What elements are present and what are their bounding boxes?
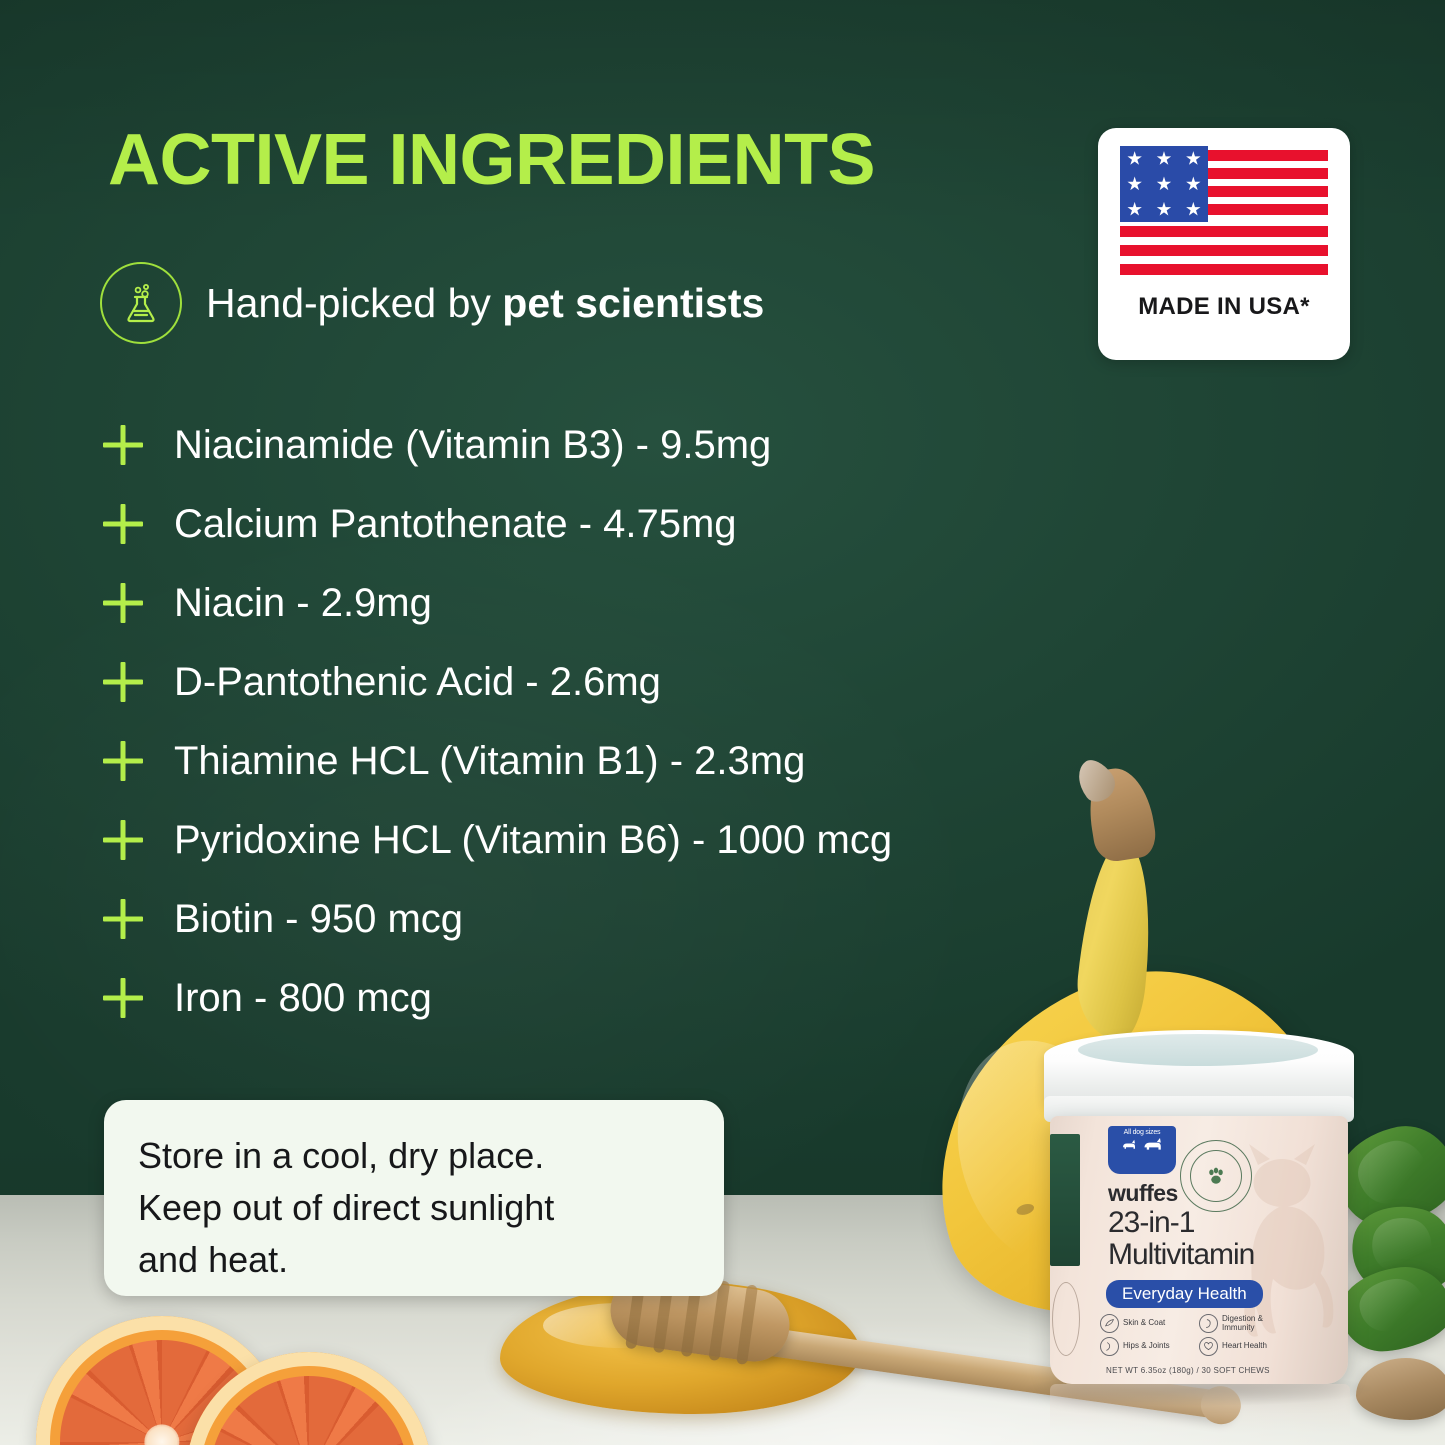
flag-stripe bbox=[1120, 226, 1328, 237]
ingredient-label: Calcium Pantothenate - 4.75mg bbox=[174, 504, 737, 544]
plus-icon bbox=[100, 975, 146, 1021]
flask-icon bbox=[100, 262, 182, 344]
ingredient-row: Calcium Pantothenate - 4.75mg bbox=[100, 484, 1100, 563]
jar-label: All dog sizes bbox=[1050, 1116, 1348, 1384]
tagline-bold: pet scientists bbox=[502, 280, 764, 326]
vet-seal-inner-ring bbox=[1190, 1150, 1242, 1202]
ingredient-label: Niacinamide (Vitamin B3) - 9.5mg bbox=[174, 425, 771, 465]
flag-star bbox=[1156, 176, 1171, 191]
all-dog-sizes-badge: All dog sizes bbox=[1108, 1126, 1176, 1174]
page-title: ACTIVE INGREDIENTS bbox=[108, 124, 875, 196]
us-flag-icon bbox=[1120, 146, 1328, 278]
ingredient-label: Pyridoxine HCL (Vitamin B6) - 1000 mcg bbox=[174, 820, 892, 860]
jar-side-seal bbox=[1052, 1282, 1080, 1356]
veterinarian-approved-seal bbox=[1180, 1140, 1252, 1212]
product-jar: All dog sizes bbox=[1036, 1030, 1362, 1390]
flag-star bbox=[1127, 176, 1142, 191]
flag-star bbox=[1186, 202, 1201, 217]
flag-stripe bbox=[1120, 264, 1328, 275]
jar-brand: wuffes bbox=[1108, 1180, 1178, 1207]
ingredient-row: Thiamine HCL (Vitamin B1) - 2.3mg bbox=[100, 721, 1100, 800]
paw-print-icon bbox=[1205, 1165, 1227, 1187]
flag-star bbox=[1156, 151, 1171, 166]
benefit-label: Digestion & Immunity bbox=[1222, 1315, 1290, 1333]
flag-canton bbox=[1120, 146, 1208, 222]
flag-star bbox=[1127, 151, 1142, 166]
flag-star bbox=[1127, 202, 1142, 217]
ingredient-row: Biotin - 950 mcg bbox=[100, 879, 1100, 958]
tagline-text: Hand-picked by pet scientists bbox=[206, 283, 764, 324]
plus-icon bbox=[100, 422, 146, 468]
plus-icon bbox=[100, 580, 146, 626]
plus-icon bbox=[100, 817, 146, 863]
benefit-item: Hips & Joints bbox=[1100, 1337, 1191, 1356]
flag-star bbox=[1186, 176, 1201, 191]
jar-reflection bbox=[1050, 1384, 1350, 1444]
ingredient-label: Niacin - 2.9mg bbox=[174, 583, 432, 623]
digestion-icon bbox=[1199, 1314, 1218, 1333]
skin-coat-icon bbox=[1100, 1314, 1119, 1333]
ingredient-row: Pyridoxine HCL (Vitamin B6) - 1000 mcg bbox=[100, 800, 1100, 879]
ingredient-label: D-Pantothenic Acid - 2.6mg bbox=[174, 662, 661, 702]
dog-size-icons bbox=[1120, 1138, 1164, 1152]
benefit-label: Heart Health bbox=[1222, 1342, 1267, 1351]
benefit-label: Hips & Joints bbox=[1123, 1342, 1170, 1351]
benefit-item: Heart Health bbox=[1199, 1337, 1290, 1356]
flag-star bbox=[1186, 151, 1201, 166]
plus-icon bbox=[100, 896, 146, 942]
plus-icon bbox=[100, 738, 146, 784]
benefit-item: Skin & Coat bbox=[1100, 1314, 1191, 1333]
jar-benefits-grid: Skin & Coat Digestion & Immunity Hips & … bbox=[1100, 1314, 1290, 1356]
dipper-rib bbox=[736, 1284, 758, 1365]
benefit-item: Digestion & Immunity bbox=[1199, 1314, 1290, 1333]
tagline-prefix: Hand-picked by bbox=[206, 280, 502, 326]
ingredient-row: D-Pantothenic Acid - 2.6mg bbox=[100, 642, 1100, 721]
all-dog-sizes-label: All dog sizes bbox=[1124, 1129, 1161, 1136]
jar-side-panel bbox=[1050, 1134, 1080, 1266]
benefit-label: Skin & Coat bbox=[1123, 1319, 1165, 1328]
small-dog-icon bbox=[1120, 1138, 1138, 1152]
flag-star bbox=[1156, 202, 1171, 217]
plus-icon bbox=[100, 501, 146, 547]
ingredient-label: Thiamine HCL (Vitamin B1) - 2.3mg bbox=[174, 741, 805, 781]
ingredient-label: Iron - 800 mcg bbox=[174, 978, 432, 1018]
storage-line-3: and heat. bbox=[138, 1234, 690, 1286]
plus-icon bbox=[100, 659, 146, 705]
made-in-usa-badge: MADE IN USA* bbox=[1098, 128, 1350, 360]
jar-subtitle-pill: Everyday Health bbox=[1106, 1280, 1263, 1308]
storage-line-2: Keep out of direct sunlight bbox=[138, 1182, 690, 1234]
infographic-canvas: All dog sizes bbox=[0, 0, 1445, 1445]
ingredient-row: Niacinamide (Vitamin B3) - 9.5mg bbox=[100, 405, 1100, 484]
jar-net-weight: NET WT 6.35oz (180g) / 30 SOFT CHEWS bbox=[1106, 1366, 1270, 1375]
large-dog-icon bbox=[1142, 1138, 1164, 1152]
hips-joints-icon bbox=[1100, 1337, 1119, 1356]
ingredient-row: Iron - 800 mcg bbox=[100, 958, 1100, 1037]
flag-stripe bbox=[1120, 245, 1328, 256]
jar-lid-inner bbox=[1078, 1034, 1318, 1066]
banana-spot bbox=[1015, 1202, 1035, 1217]
ingredients-list: Niacinamide (Vitamin B3) - 9.5mg Calcium… bbox=[100, 405, 1100, 1037]
storage-note-callout: Store in a cool, dry place. Keep out of … bbox=[104, 1100, 724, 1296]
ingredient-row: Niacin - 2.9mg bbox=[100, 563, 1100, 642]
made-in-usa-label: MADE IN USA* bbox=[1138, 293, 1310, 321]
ingredient-label: Biotin - 950 mcg bbox=[174, 899, 463, 939]
storage-line-1: Store in a cool, dry place. bbox=[138, 1130, 690, 1182]
jar-title-line2: Multivitamin bbox=[1108, 1240, 1254, 1270]
heart-icon bbox=[1199, 1337, 1218, 1356]
tagline-row: Hand-picked by pet scientists bbox=[100, 262, 764, 344]
jar-title-line1: 23-in-1 bbox=[1108, 1208, 1194, 1238]
